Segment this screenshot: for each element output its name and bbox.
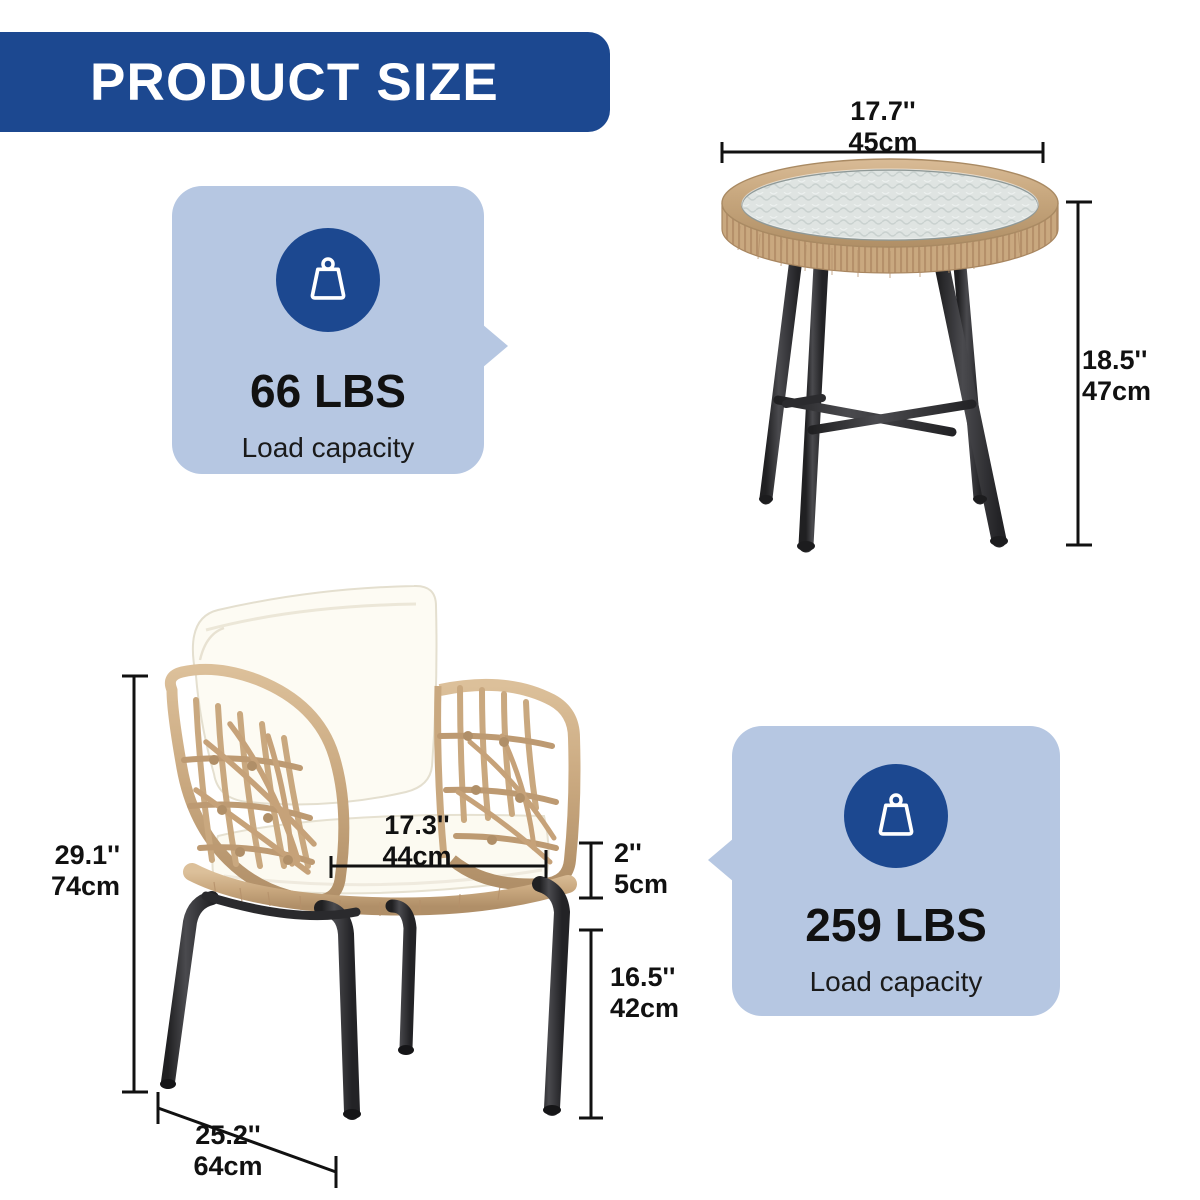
badge-tail — [708, 838, 734, 882]
chair-seat-height-dimension-line — [579, 930, 603, 1118]
weight-icon — [276, 228, 380, 332]
chair-legs — [160, 884, 562, 1119]
chair-back-wicker-panel — [170, 669, 343, 900]
badge-value: 66 LBS — [250, 368, 406, 414]
page-title: PRODUCT SIZE — [90, 52, 499, 113]
badge-tail — [482, 324, 508, 368]
badge-caption: Load capacity — [242, 434, 415, 462]
chair-cushion-label: 2'' 5cm — [614, 838, 668, 900]
table-rim-side — [722, 203, 1058, 273]
badge-value: 259 LBS — [805, 902, 987, 948]
badge-caption: Load capacity — [810, 968, 983, 996]
table-illustration — [722, 159, 1058, 551]
table-height-label: 18.5'' 47cm — [1082, 345, 1151, 407]
weight-icon — [844, 764, 948, 868]
chair-seat-width-label: 17.3'' 44cm — [352, 810, 482, 872]
chair-height-dimension-line — [122, 676, 148, 1092]
load-capacity-badge-chair: 259 LBS Load capacity — [732, 726, 1060, 1016]
product-size-infographic: PRODUCT SIZE 66 LBS Load capacity 259 LB… — [0, 0, 1200, 1200]
chair-seat-height-label: 16.5'' 42cm — [610, 962, 679, 1024]
chair-height-label: 29.1'' 74cm — [34, 840, 120, 902]
chair-seat-frame — [192, 872, 568, 907]
header-banner: PRODUCT SIZE — [0, 32, 610, 132]
chair-depth-label: 25.2'' 64cm — [158, 1120, 298, 1182]
load-capacity-badge-table: 66 LBS Load capacity — [172, 186, 484, 474]
chair-cushion-dimension-line — [579, 843, 603, 898]
table-rim-texture — [738, 226, 1020, 278]
table-legs — [766, 243, 999, 545]
table-rim-top — [722, 159, 1058, 247]
table-glass-top — [742, 170, 1038, 240]
table-width-label: 17.7'' 45cm — [790, 96, 976, 158]
chair-back-pillow — [193, 586, 437, 805]
illustration-stage — [0, 0, 1200, 1200]
